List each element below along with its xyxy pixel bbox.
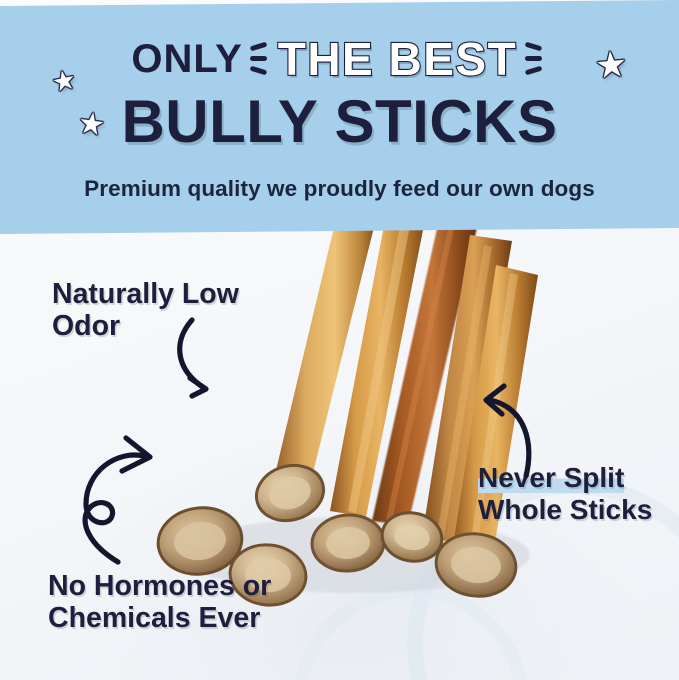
callout-line-1: Naturally Low [52,278,287,310]
headline-line-1: ONLY THE BEST [0,36,679,82]
callout-no-hormones: No Hormones or Chemicals Ever [48,570,318,635]
star-icon: ★ [76,108,107,141]
sparkle-rays-right-icon [522,37,548,81]
headline-only: ONLY [131,37,242,81]
header-subtitle: Premium quality we proudly feed our own … [0,176,679,202]
curved-arrow-up-left-icon [474,382,574,478]
headline-the-best: THE BEST [278,33,517,85]
callout-line-1: No Hormones or [48,570,318,602]
header-banner: ONLY THE BEST BULLY STICKS Premium quali… [0,0,679,238]
looped-arrow-up-right-icon [72,424,182,564]
star-icon: ★ [49,66,78,97]
callout-line-2: Whole Sticks [478,494,678,526]
star-icon: ★ [593,46,628,85]
callout-line-2: Chemicals Ever [48,602,318,634]
curved-arrow-down-right-icon [168,316,258,406]
sparkle-rays-left-icon [247,37,273,81]
product-infographic: ONLY THE BEST BULLY STICKS Premium quali… [0,0,679,680]
